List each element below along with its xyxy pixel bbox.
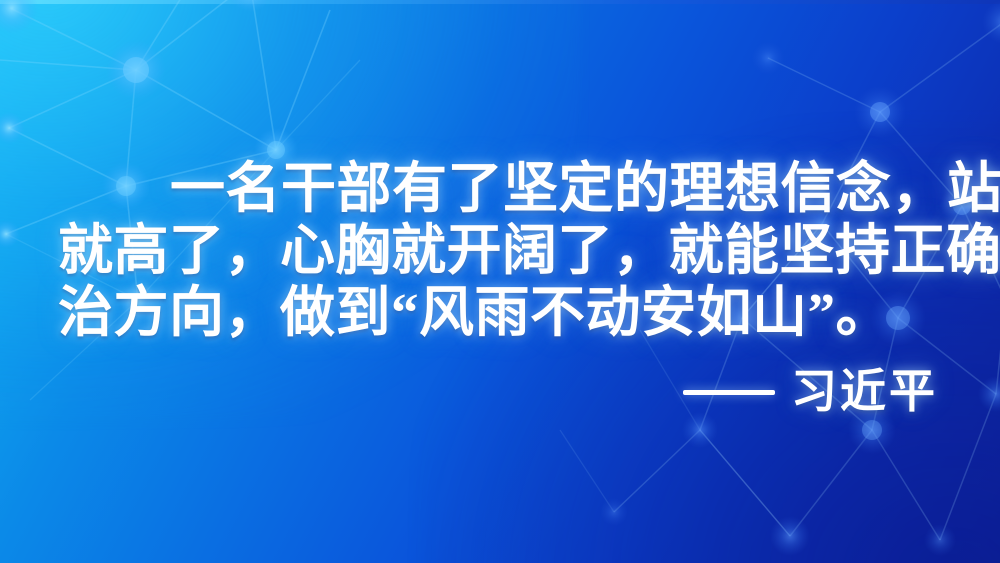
attribution-author-name: 习近平 — [791, 366, 938, 418]
attribution: 习近平 — [683, 366, 938, 418]
quote-text-block: 一名干部有了坚定的理想信念，站位 就高了，心胸就开阔了，就能坚持正确政 治方向，… — [58, 158, 942, 344]
quote-line-3: 治方向，做到“风雨不动安如山”。 — [58, 282, 942, 344]
quote-line-2: 就高了，心胸就开阔了，就能坚持正确政 — [58, 220, 942, 282]
attribution-dash-icon — [683, 390, 775, 395]
quote-line-1: 一名干部有了坚定的理想信念，站位 — [58, 158, 942, 220]
background-top-highlight-line — [0, 0, 1000, 4]
quote-poster: 一名干部有了坚定的理想信念，站位 就高了，心胸就开阔了，就能坚持正确政 治方向，… — [0, 0, 1000, 563]
